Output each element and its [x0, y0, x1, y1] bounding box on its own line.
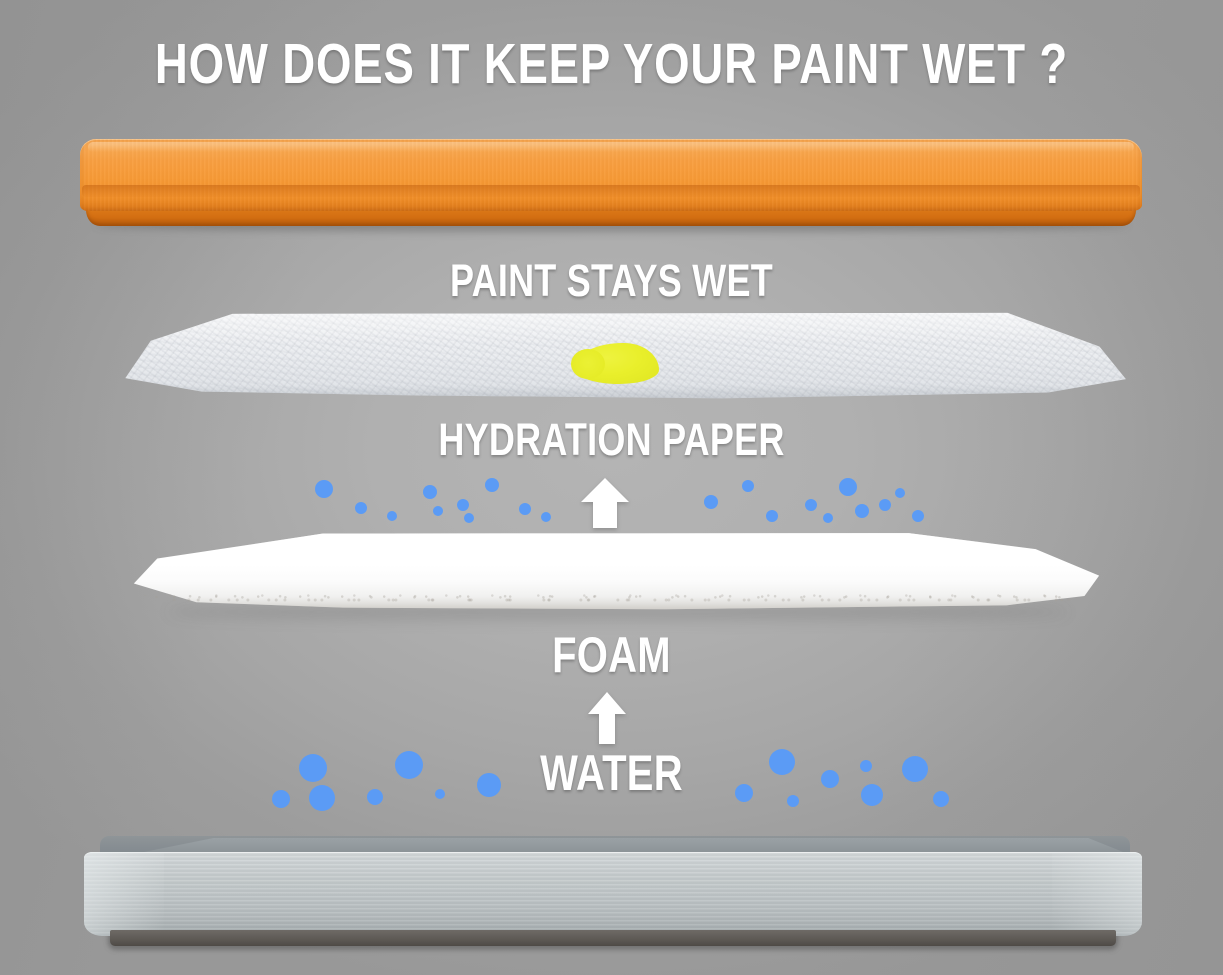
- caption-water: WATER: [122, 748, 1100, 798]
- tray-base-shadow: [110, 930, 1116, 946]
- caption-foam: FOAM: [122, 630, 1100, 680]
- layer-metal-tray: [84, 836, 1142, 948]
- arrow-up-icon: [581, 478, 629, 528]
- caption-hydration-paper: HYDRATION PAPER: [122, 417, 1100, 462]
- layer-foam: [128, 532, 1104, 618]
- tray-right-highlight: [1052, 852, 1142, 936]
- tray-left-highlight: [84, 852, 164, 936]
- page-title: HOW DOES IT KEEP YOUR PAINT WET ?: [122, 36, 1100, 93]
- lid-top-face: [80, 139, 1142, 211]
- infographic-canvas: HOW DOES IT KEEP YOUR PAINT WET ? PAINT …: [0, 0, 1223, 975]
- lid-lip-shadow: [82, 185, 1140, 197]
- tray-wall-texture: [84, 852, 1142, 936]
- yellow-paint-blob: [575, 343, 659, 384]
- foam-bottom-texture: [128, 584, 1104, 610]
- layer-hydration-paper: [110, 310, 1130, 406]
- layer-orange-lid: [80, 139, 1142, 231]
- caption-paint-stays-wet: PAINT STAYS WET: [122, 258, 1100, 303]
- arrow-up-icon: [588, 692, 626, 744]
